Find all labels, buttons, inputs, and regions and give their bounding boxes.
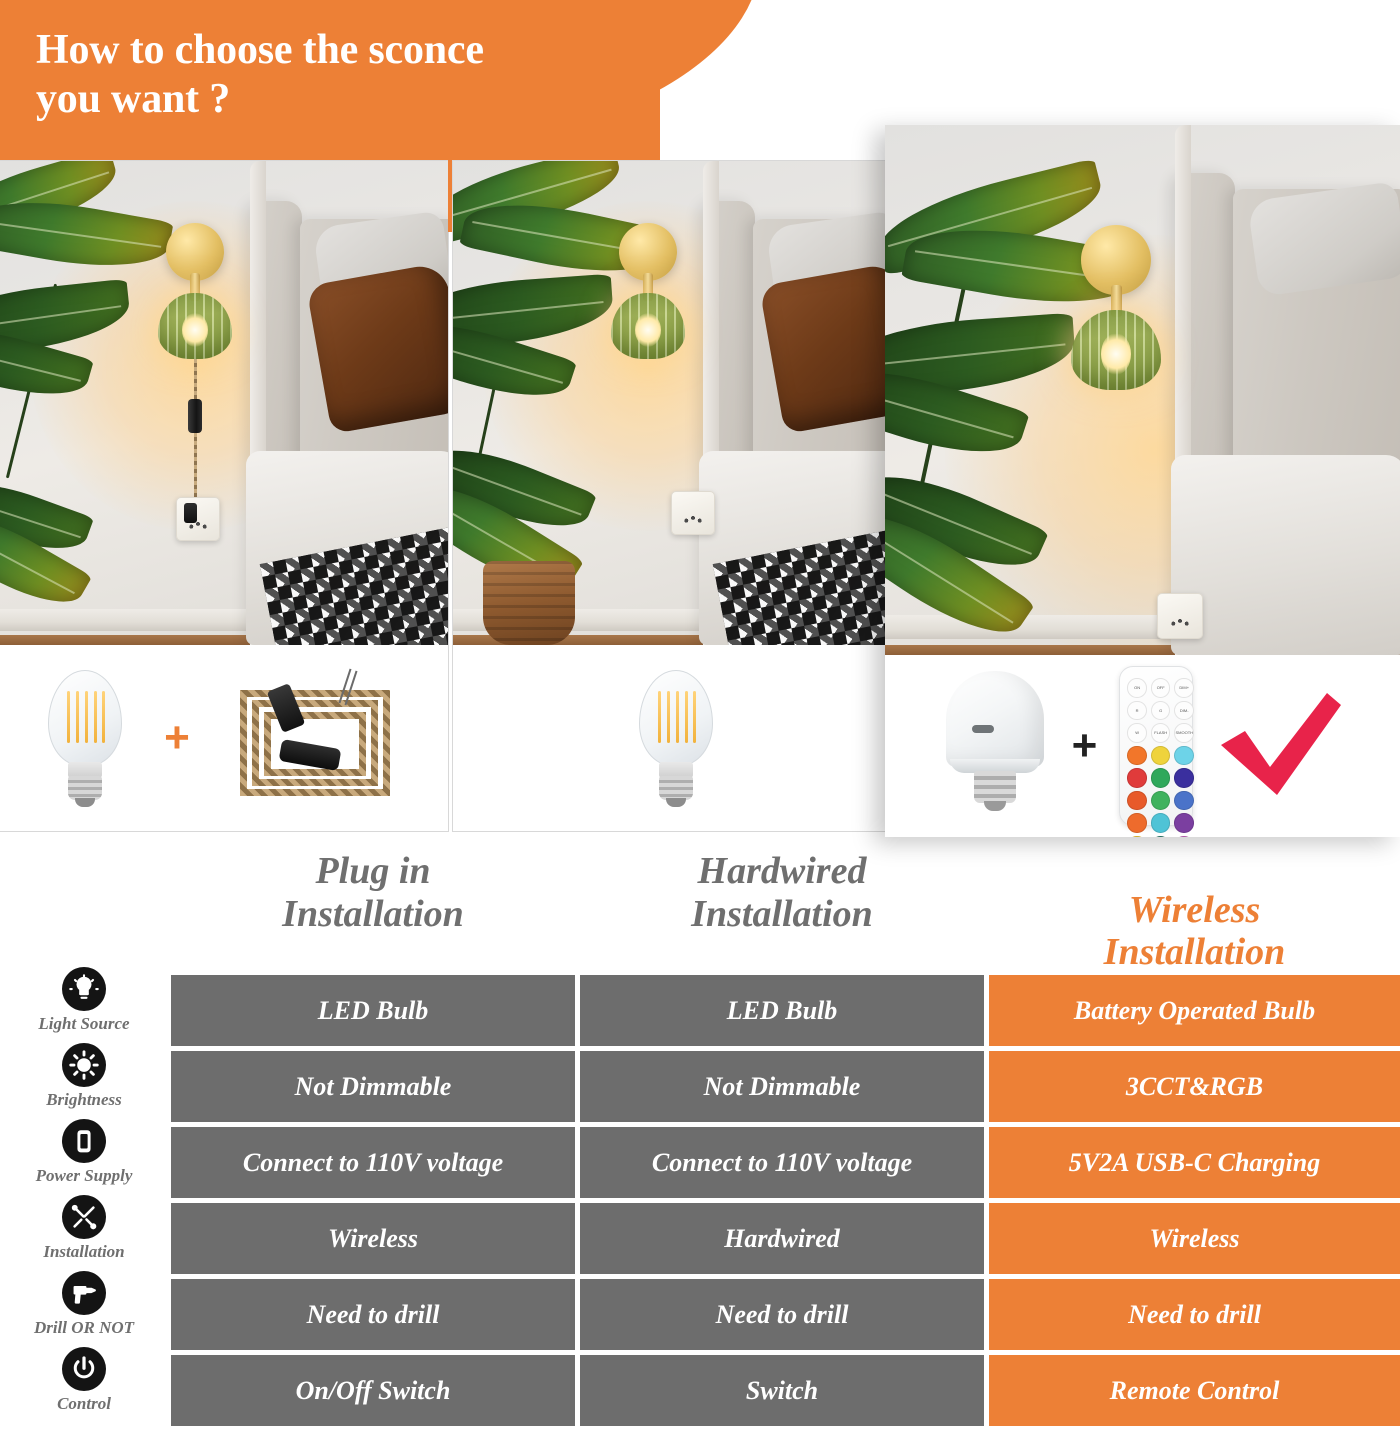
cell-wireless: 3CCT&RGB xyxy=(989,1051,1400,1122)
cell-wireless: Need to drill xyxy=(989,1279,1400,1350)
remote-button-flash[interactable]: FLASH xyxy=(1151,723,1171,743)
power-icon xyxy=(62,1347,106,1391)
braided-cord-image xyxy=(226,668,406,808)
remote-color-button-r3c2[interactable] xyxy=(1174,813,1194,833)
battery-icon xyxy=(62,1119,106,1163)
remote-color-button-r1c2[interactable] xyxy=(1174,768,1194,788)
panel-wireless: + ONOFFDIM+RGDIM-WFLASHSMOOTH xyxy=(885,125,1400,837)
column-header-hardwired: Hardwired Installation xyxy=(580,850,984,935)
red-checkmark-icon xyxy=(1215,687,1345,805)
row-icon-cell: Drill OR NOT xyxy=(0,1271,168,1353)
panel-plug-in: + xyxy=(0,160,449,832)
plus-separator-icon: + xyxy=(1072,724,1098,768)
page-title: How to choose the sconce you want ? xyxy=(36,26,676,123)
tools-icon xyxy=(62,1195,106,1239)
remote-color-button-r4c0[interactable] xyxy=(1127,836,1147,837)
cell-plug-in: Not Dimmable xyxy=(171,1051,575,1122)
panel-hardwired xyxy=(452,160,900,832)
row-icon-label: Power Supply xyxy=(36,1166,133,1186)
row-icon-label: Light Source xyxy=(38,1014,129,1034)
cell-plug-in: Need to drill xyxy=(171,1279,575,1350)
remote-color-button-r1c0[interactable] xyxy=(1127,768,1147,788)
remote-color-button-r2c1[interactable] xyxy=(1151,791,1171,811)
remote-color-button-r0c2[interactable] xyxy=(1174,746,1194,766)
remote-button-g[interactable]: G xyxy=(1151,701,1171,721)
led-filament-bulb-image xyxy=(633,670,719,806)
rgb-remote-control-image: ONOFFDIM+RGDIM-WFLASHSMOOTH xyxy=(1119,666,1193,826)
row-icon-label: Installation xyxy=(43,1242,124,1262)
accessory-row-wireless: + ONOFFDIM+RGDIM-WFLASHSMOOTH xyxy=(885,655,1400,837)
cell-hardwired: Switch xyxy=(580,1355,984,1426)
cell-wireless: Remote Control xyxy=(989,1355,1400,1426)
row-icon-label: Control xyxy=(57,1394,111,1414)
led-filament-bulb-image xyxy=(42,670,128,806)
remote-color-button-r2c2[interactable] xyxy=(1174,791,1194,811)
remote-color-button-r4c1[interactable] xyxy=(1151,836,1171,837)
row-icon-cell: Brightness xyxy=(0,1043,168,1125)
remote-button-w[interactable]: W xyxy=(1127,723,1147,743)
cell-hardwired: Hardwired xyxy=(580,1203,984,1274)
drill-icon xyxy=(62,1271,106,1315)
cell-plug-in: Wireless xyxy=(171,1203,575,1274)
cell-hardwired: Need to drill xyxy=(580,1279,984,1350)
remote-button-on[interactable]: ON xyxy=(1127,678,1147,698)
remote-button-smooth[interactable]: SMOOTH xyxy=(1174,723,1194,743)
remote-color-button-r4c2[interactable] xyxy=(1174,836,1194,837)
remote-button-dim[interactable]: DIM- xyxy=(1174,701,1194,721)
scene-photo-hardwired xyxy=(453,161,899,645)
accessory-row-plug-in: + xyxy=(0,645,448,831)
remote-color-button-r3c1[interactable] xyxy=(1151,813,1171,833)
table-row: ControlOn/Off SwitchSwitchRemote Control xyxy=(0,1355,1400,1426)
scene-photo-wireless xyxy=(885,125,1400,655)
table-row: Power SupplyConnect to 110V voltageConne… xyxy=(0,1127,1400,1198)
table-row: Drill OR NOTNeed to drillNeed to drillNe… xyxy=(0,1279,1400,1350)
cell-plug-in: Connect to 110V voltage xyxy=(171,1127,575,1198)
row-icon-label: Brightness xyxy=(46,1090,122,1110)
brightness-icon xyxy=(62,1043,106,1087)
row-icon-cell: Control xyxy=(0,1347,168,1429)
row-icon-cell: Power Supply xyxy=(0,1119,168,1201)
remote-color-button-r0c1[interactable] xyxy=(1151,746,1171,766)
accessory-row-hardwired xyxy=(453,645,899,831)
cell-wireless: 5V2A USB-C Charging xyxy=(989,1127,1400,1198)
table-row: Light SourceLED BulbLED BulbBattery Oper… xyxy=(0,975,1400,1046)
row-icon-cell: Installation xyxy=(0,1195,168,1277)
cell-hardwired: Connect to 110V voltage xyxy=(580,1127,984,1198)
battery-operated-bulb-image xyxy=(940,671,1050,821)
cell-plug-in: On/Off Switch xyxy=(171,1355,575,1426)
column-header-wireless-title: Wireless Installation xyxy=(1104,889,1286,974)
spec-comparison-table: Light SourceLED BulbLED BulbBattery Oper… xyxy=(0,975,1400,1431)
plus-separator-icon: + xyxy=(164,716,190,760)
lightbulb-icon xyxy=(62,967,106,1011)
table-row: BrightnessNot DimmableNot Dimmable3CCT&R… xyxy=(0,1051,1400,1122)
remote-color-button-r2c0[interactable] xyxy=(1127,791,1147,811)
cell-wireless: Wireless xyxy=(989,1203,1400,1274)
cell-hardwired: LED Bulb xyxy=(580,975,984,1046)
remote-color-button-r3c0[interactable] xyxy=(1127,813,1147,833)
cell-wireless: Battery Operated Bulb xyxy=(989,975,1400,1046)
cell-plug-in: LED Bulb xyxy=(171,975,575,1046)
remote-color-button-r0c0[interactable] xyxy=(1127,746,1147,766)
panel-divider-orange xyxy=(448,160,452,232)
remote-color-button-r1c1[interactable] xyxy=(1151,768,1171,788)
cell-hardwired: Not Dimmable xyxy=(580,1051,984,1122)
column-headers-row: Plug in Installation Hardwired Installat… xyxy=(0,850,1400,968)
scene-photo-plug-in xyxy=(0,161,448,645)
remote-button-off[interactable]: OFF xyxy=(1151,678,1171,698)
remote-button-dim[interactable]: DIM+ xyxy=(1174,678,1194,698)
row-icon-label: Drill OR NOT xyxy=(34,1318,134,1338)
table-row: InstallationWirelessHardwiredWireless xyxy=(0,1203,1400,1274)
remote-button-r[interactable]: R xyxy=(1127,701,1147,721)
column-header-plug-in: Plug in Installation xyxy=(171,850,575,935)
row-icon-cell: Light Source xyxy=(0,967,168,1049)
